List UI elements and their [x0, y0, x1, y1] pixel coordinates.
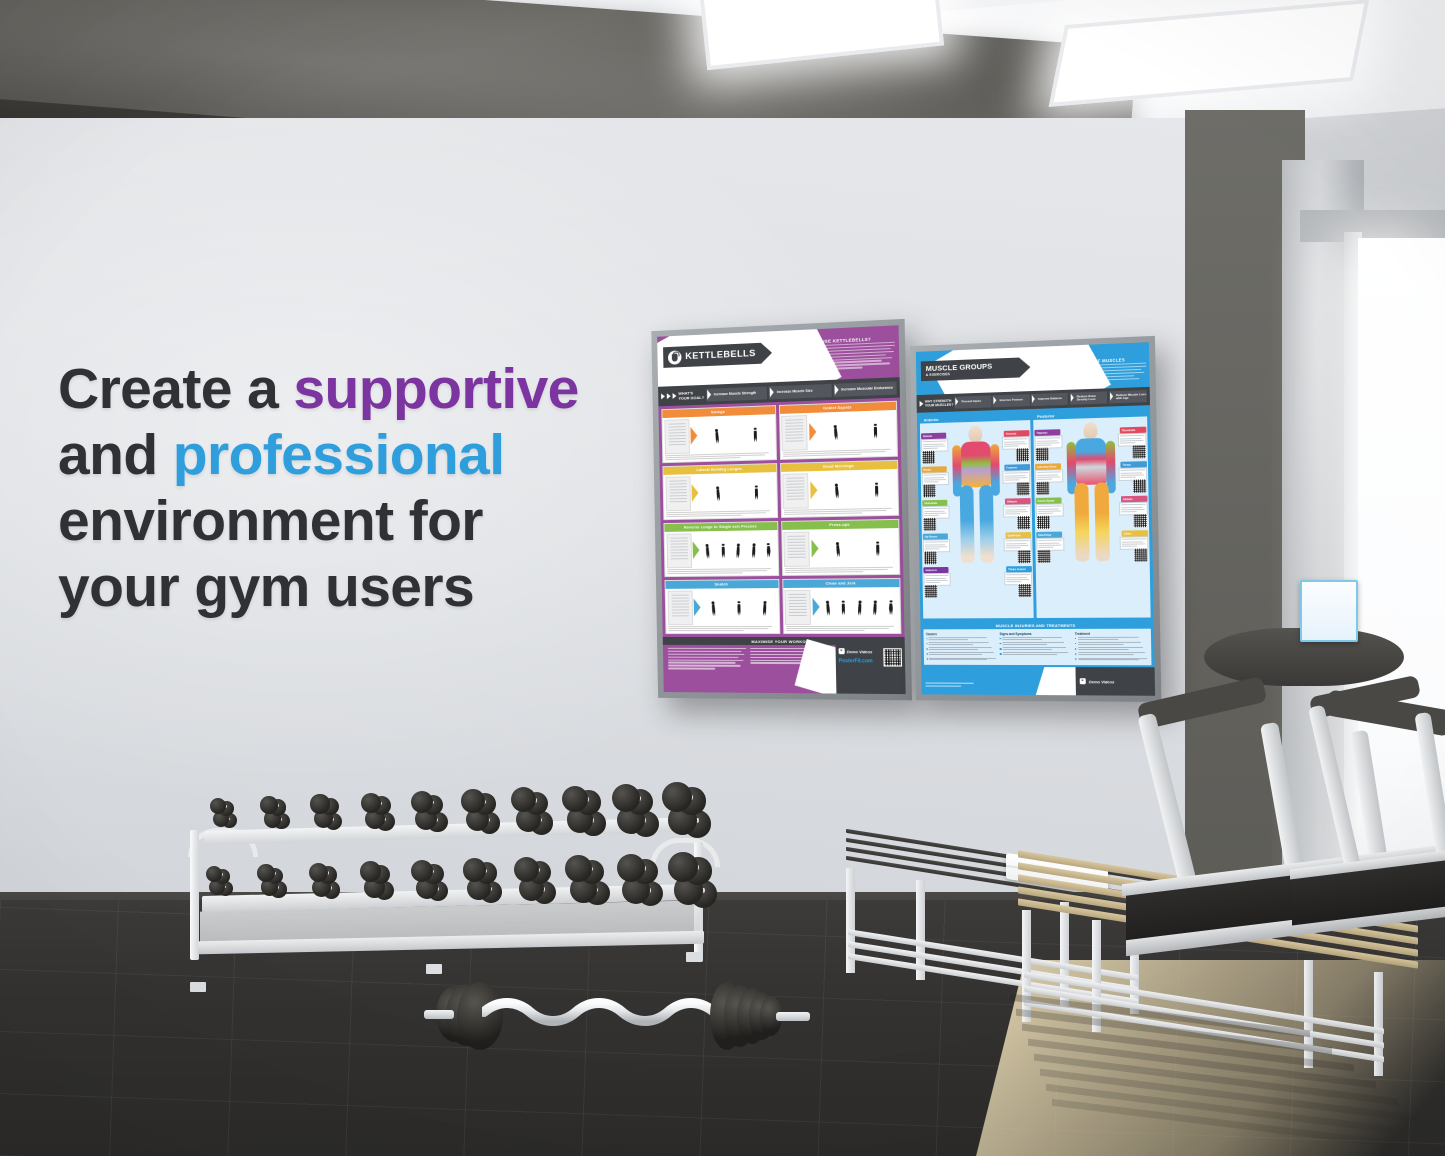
injury-column: Causes — [926, 632, 997, 663]
exercise-grid: SwingsGoblet SquatsLateral Bulldog Lunge… — [658, 398, 904, 637]
qr-code[interactable] — [1016, 448, 1029, 461]
exercise-figure — [874, 482, 879, 502]
muscle-diagram-thumb — [783, 531, 810, 566]
posterior-panel: Posterior TrapeziusRhomboidsLatissimus D… — [1033, 408, 1151, 618]
arrow-right-icon — [693, 541, 700, 559]
qr-code[interactable] — [1018, 584, 1031, 597]
injury-column: Signs and Symptoms — [1000, 631, 1073, 662]
headline-line2-a: and — [58, 423, 173, 487]
exercise-figure — [715, 486, 722, 506]
exercise-figure — [835, 541, 842, 562]
injury-list-item — [1000, 652, 1072, 656]
demo-videos-label: Demo Videos — [1089, 679, 1115, 684]
brand-logo-row: PosterFit.com — [925, 673, 957, 679]
anterior-panel: Anterior DeltoidsPectoralsBicepsForearms… — [920, 412, 1034, 618]
muscle-diagram-thumb — [781, 415, 808, 451]
bullet-icon — [926, 638, 928, 640]
exercise-figure — [825, 600, 832, 620]
poster-frame-kettlebells[interactable]: KETTLEBELLS WHY USE KETTLEBELLS? — [651, 319, 912, 700]
left-leg-muscles — [959, 485, 974, 563]
exercise-figure — [737, 601, 742, 621]
exercise-card: Clean and Jerk — [782, 578, 902, 634]
qr-code[interactable] — [1134, 514, 1148, 527]
dumbbell-plate-near — [257, 864, 275, 882]
chevron-right-icon — [661, 393, 665, 399]
dumbbell — [310, 794, 355, 831]
goal-chip: Reduce Muscle Loss with Age — [1109, 390, 1147, 403]
exercise-caption — [664, 510, 776, 519]
bullet-icon — [926, 658, 928, 660]
dumbbell — [511, 787, 562, 830]
brand-name: PosterFit — [839, 658, 861, 664]
poster-frame-muscle-groups[interactable]: MUSCLE GROUPS & EXERCISES IMPORTANCE OF … — [910, 336, 1161, 702]
goal-chip: Increase Muscular Endurance — [833, 381, 897, 397]
exercise-caption — [666, 626, 778, 633]
dumbbell-plate-near — [617, 854, 645, 882]
exercise-figure — [875, 541, 880, 561]
arrow-right-icon — [811, 539, 818, 557]
dumbbell — [668, 852, 724, 900]
brand-suffix: .com — [861, 658, 873, 664]
exercise-figures — [818, 471, 896, 508]
chevron-right-icon — [673, 393, 677, 399]
arrow-right-icon — [812, 598, 819, 616]
right-leg-muscles — [1094, 482, 1110, 561]
exercise-body — [783, 587, 900, 626]
bullet-icon — [1000, 653, 1002, 655]
exercise-body — [664, 472, 777, 512]
qr-code[interactable] — [923, 518, 936, 531]
qr-code — [883, 648, 902, 666]
exercise-figure — [856, 600, 862, 621]
exercise-body — [781, 469, 898, 510]
torso-muscles — [960, 441, 990, 487]
exercise-card: Lateral Bulldog Lunges — [662, 463, 777, 520]
goal-label: WHAT'S YOUR GOAL? — [678, 390, 704, 401]
dumbbell — [206, 866, 248, 900]
dumbbell — [257, 864, 301, 900]
dumbbell — [617, 854, 671, 900]
dumbbell — [463, 858, 513, 900]
exercise-figures — [698, 416, 773, 453]
dumbbell — [565, 855, 618, 900]
muscle-diagram-thumb — [782, 473, 809, 509]
bullet-icon — [1000, 648, 1002, 650]
qr-code[interactable] — [924, 551, 937, 564]
dumbbell-plate-near — [565, 855, 592, 882]
exercise-figure — [833, 424, 840, 445]
gym-scene: Create a supportive and professional env… — [0, 0, 1445, 1156]
dumbbell-plate-near — [461, 789, 485, 813]
qr-code[interactable] — [1037, 550, 1050, 563]
why-use-body — [786, 345, 895, 371]
qr-code[interactable] — [1016, 482, 1029, 495]
dumbbell — [514, 857, 565, 900]
exercise-figures — [820, 589, 898, 625]
dumbbell — [360, 861, 407, 900]
kettlebell-icon — [668, 350, 682, 364]
qr-code[interactable] — [1134, 548, 1148, 561]
head — [1083, 422, 1097, 440]
rack-foot-left — [190, 982, 206, 992]
dumbbell — [461, 789, 511, 831]
kettlebells-header: KETTLEBELLS WHY USE KETTLEBELLS? — [657, 325, 899, 387]
injury-column-heading: Causes — [926, 632, 997, 636]
arrow-right-icon — [810, 481, 817, 499]
headline-supportive: supportive — [293, 357, 578, 421]
exercise-figures — [819, 530, 897, 566]
injury-list-item — [926, 647, 997, 651]
head — [968, 426, 982, 443]
qr-code[interactable] — [1017, 516, 1030, 529]
dumbbell — [662, 782, 718, 830]
exercise-figure — [735, 543, 741, 563]
exercise-card: Goblet Squats — [778, 401, 898, 460]
exercise-body — [665, 530, 778, 569]
exercise-figure — [720, 543, 725, 563]
muscle-groups-poster: MUSCLE GROUPS & EXERCISES IMPORTANCE OF … — [916, 342, 1155, 696]
bullet-icon — [926, 648, 928, 650]
bullet-icon — [1000, 638, 1002, 640]
headline-line3: environment for — [58, 488, 638, 554]
exercise-body — [780, 410, 897, 452]
exercise-figure — [705, 543, 712, 563]
injury-list-item — [926, 642, 997, 646]
dumbbell-plate-near — [309, 863, 328, 882]
dumbbell-plate-near — [310, 794, 329, 813]
bullet-icon — [1075, 648, 1077, 650]
muscle-diagram-thumb — [666, 533, 692, 568]
dumbbell — [411, 791, 459, 831]
exercise-figure — [750, 543, 756, 563]
dumbbell — [361, 793, 408, 832]
page-title: Create a supportive and professional env… — [58, 356, 638, 620]
dumbbell-plate-near — [668, 852, 698, 882]
muscle-diagram-thumb — [784, 589, 811, 624]
dumbbell — [210, 798, 252, 832]
injuries-section: MUSCLE INJURIES AND TREATMENTS CausesSig… — [920, 621, 1154, 668]
dumbbell-plate-near — [662, 782, 692, 812]
posterior-body-figure — [1067, 422, 1117, 614]
dumbbell — [309, 863, 354, 900]
exercise-figures — [701, 532, 776, 568]
dumbbell-plate-near — [360, 861, 381, 882]
brand-panel: Demo Videos PosterFit.com — [835, 645, 905, 694]
brand-suffix: .com — [946, 673, 957, 679]
qr-code[interactable] — [1018, 550, 1031, 563]
exercise-figure — [834, 483, 841, 504]
headline-line4: your gym users — [58, 554, 638, 620]
upright-left — [1137, 713, 1200, 902]
exercise-figure — [711, 601, 718, 621]
exercise-figure — [762, 600, 768, 620]
bullet-icon — [1000, 643, 1002, 645]
exercise-figure — [714, 428, 721, 448]
headline-professional: professional — [173, 423, 505, 487]
exercise-figure — [841, 600, 846, 620]
poster-title: KETTLEBELLS — [685, 348, 756, 362]
qr-code[interactable] — [925, 585, 938, 598]
posterior-figure-area: TrapeziusRhomboidsLatissimus DorsiTricep… — [1033, 416, 1150, 618]
bullet-icon — [1075, 638, 1077, 640]
goal-chip: Prevent Injury — [955, 395, 992, 408]
dumbbell — [411, 860, 459, 900]
rack-foot-right — [686, 952, 702, 962]
qr-code[interactable] — [1037, 516, 1050, 529]
bullet-icon — [926, 653, 928, 655]
play-video-icon — [1080, 678, 1086, 684]
exercise-figure — [888, 600, 894, 620]
exercise-figure — [752, 427, 757, 447]
anatomy-body: Anterior DeltoidsPectoralsBicepsForearms… — [917, 405, 1154, 621]
exercise-body — [662, 414, 775, 455]
exercise-figure — [873, 423, 878, 443]
arrow-right-icon — [809, 423, 816, 441]
exercise-body — [782, 528, 899, 568]
sleeve-cap-right — [776, 1012, 810, 1021]
treadmill-back — [1300, 620, 1445, 960]
qr-code[interactable] — [1036, 482, 1049, 495]
kettlebells-poster: KETTLEBELLS WHY USE KETTLEBELLS? — [657, 325, 906, 694]
exercise-card: Reverse Lunge to Single arm Presses — [663, 521, 778, 577]
bullet-icon — [1075, 653, 1077, 655]
muscle-footer: PosterFit.com Demo Videos — [921, 667, 1155, 696]
exercise-caption — [665, 568, 777, 576]
exercise-caption — [784, 626, 901, 633]
qr-code[interactable] — [1132, 445, 1146, 459]
exercise-figure — [872, 600, 878, 621]
brand-name: PosterFit — [925, 673, 946, 679]
goal-label: WHY STRENGTH YOUR MUSCLES? — [925, 399, 954, 408]
exercise-figures — [817, 411, 895, 449]
dumbbell-plate-near — [514, 857, 539, 882]
dumbbell-plate-near — [562, 786, 589, 813]
injury-column-heading: Signs and Symptoms — [1000, 631, 1072, 635]
exercise-card: Good Mornings — [780, 460, 900, 518]
exercise-figure — [766, 543, 771, 563]
dumbbell-plate-near — [411, 791, 433, 813]
dumbbell-plate-near — [260, 796, 278, 814]
muscle-header: MUSCLE GROUPS & EXERCISES IMPORTANCE OF … — [916, 342, 1150, 395]
qr-code[interactable] — [1133, 479, 1147, 492]
goal-chip: Improve Balance — [1031, 393, 1068, 406]
exercise-card: Press-ups — [781, 519, 901, 576]
injuries-columns: CausesSigns and SymptomsTreatment — [923, 629, 1151, 666]
anterior-body-figure — [952, 425, 1000, 614]
injury-list-item — [1000, 647, 1072, 651]
exercise-card: Swings — [661, 405, 776, 463]
right-leg-muscles — [979, 485, 994, 563]
injury-list-item — [926, 658, 997, 662]
exercise-card: Snatch — [665, 579, 780, 634]
injury-list-item — [1000, 642, 1072, 646]
qr-code[interactable] — [1036, 448, 1049, 461]
play-video-icon — [839, 648, 845, 654]
arrow-right-icon — [694, 598, 701, 616]
arrow-right-icon — [690, 427, 697, 445]
ez-curl-barbell — [424, 968, 816, 1078]
dumbbell — [562, 786, 615, 831]
muscle-diagram-thumb — [667, 590, 693, 625]
goal-chip: Reduce Bone Density Loss — [1070, 391, 1108, 404]
exercise-figures — [700, 474, 775, 510]
muscle-diagram-thumb — [664, 419, 690, 454]
exercise-body — [666, 588, 779, 626]
chevron-right-icon — [667, 393, 671, 399]
kettlebells-footer: MAXIMISE YOUR WORKOUT — [663, 637, 906, 694]
qr-code[interactable] — [922, 451, 935, 464]
goal-chip: Increase Muscle Strength — [706, 386, 767, 401]
exercise-figures — [702, 590, 777, 625]
importance-panel: IMPORTANCE OF MUSCLES — [1041, 357, 1146, 387]
exercise-figure — [753, 485, 758, 505]
headline-line1-a: Create a — [58, 357, 293, 421]
why-use-panel: WHY USE KETTLEBELLS? — [786, 336, 896, 373]
exercise-caption — [783, 567, 900, 575]
injury-list-item — [926, 637, 997, 641]
sleeve-cap-left — [424, 1010, 454, 1019]
back-muscles — [1075, 438, 1106, 485]
goal-chip: Improve Posture — [993, 394, 1030, 407]
dumbbell-plate-near — [612, 784, 640, 812]
arrow-right-icon — [692, 484, 699, 502]
dumbbell-plate-near — [463, 858, 487, 882]
bullet-icon — [926, 643, 928, 645]
bullet-icon — [1075, 643, 1077, 645]
exercise-caption — [781, 508, 898, 517]
dumbbell — [612, 784, 666, 830]
dumbbell — [260, 796, 304, 832]
upright-left — [1308, 705, 1364, 884]
goal-arrows: WHAT'S YOUR GOAL? — [661, 390, 704, 401]
chevron-right-icon — [920, 401, 924, 407]
injury-list-item — [1000, 637, 1072, 641]
demo-videos-label: Demo Videos — [847, 649, 873, 654]
qr-code[interactable] — [923, 484, 936, 497]
handlebar-left — [1309, 675, 1421, 719]
goal-chip: Increase Muscle Size — [769, 383, 831, 398]
injury-list-item — [926, 652, 997, 656]
left-leg-muscles — [1074, 483, 1089, 562]
bullet-icon — [1075, 658, 1077, 660]
muscle-diagram-thumb — [665, 476, 691, 511]
anterior-figure-area: DeltoidsPectoralsBicepsForearmsAbdominal… — [920, 420, 1034, 618]
rack-post-left — [190, 830, 199, 960]
